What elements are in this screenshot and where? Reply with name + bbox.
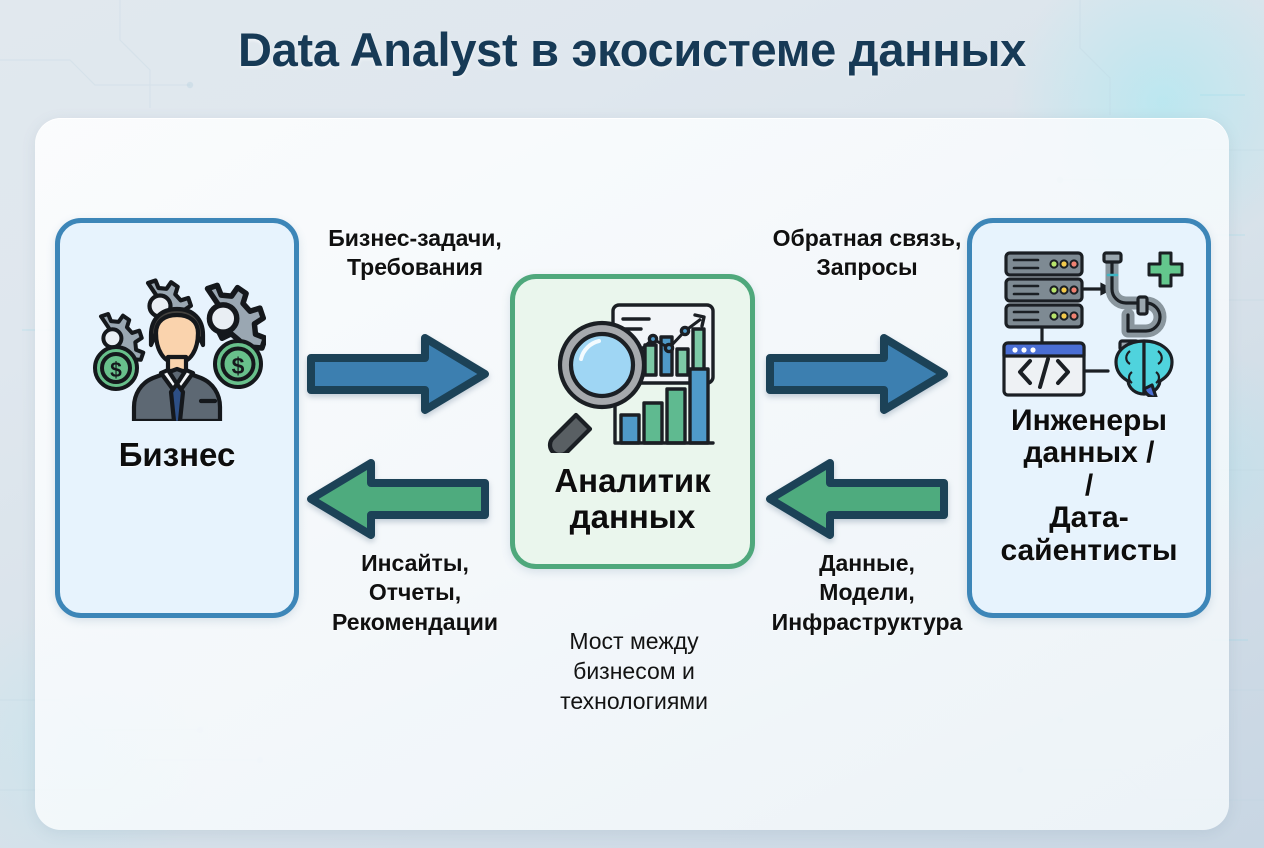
server-pipeline-code-brain-icon [994,245,1184,397]
node-analyst[interactable]: Аналитик данных [510,274,755,569]
arrow-analyst-to-engineers [766,332,948,421]
diagram-canvas: Data Analyst в экосистеме данных [0,0,1264,848]
arrow-engineers-to-analyst [766,457,948,546]
svg-text:$: $ [232,353,245,379]
node-engineers-label: Инженеры данных / / Дата- сайентисты [1000,405,1177,567]
node-business-label: Бизнес [119,437,236,473]
arrow-analyst-to-business [307,457,489,546]
analyst-bridge-caption: Мост между бизнесом и технологиями [505,627,763,717]
businessman-gears-money-icon: $ $ [88,271,266,421]
svg-text:$: $ [110,359,122,382]
edge-label-engineers-to-analyst: Данные, Модели, Инфраструктура [740,549,994,637]
arrow-business-to-analyst [307,332,489,421]
node-engineers[interactable]: Инженеры данных / / Дата- сайентисты [967,218,1211,618]
edge-label-analyst-to-business: Инсайты, Отчеты, Рекомендации [288,549,542,637]
node-business[interactable]: $ $ [55,218,299,618]
edge-label-business-to-analyst: Бизнес-задачи, Требования [290,224,540,283]
edge-label-analyst-to-engineers: Обратная связь, Запросы [742,224,992,283]
page-title: Data Analyst в экосистеме данных [0,22,1264,77]
node-analyst-label: Аналитик данных [554,463,710,534]
magnifier-bar-chart-icon [535,293,731,453]
